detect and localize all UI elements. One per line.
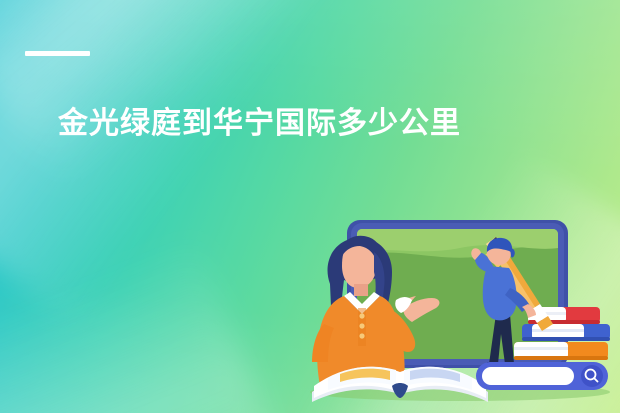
accent-rule (25, 51, 90, 56)
search-bar (476, 362, 608, 390)
cover-card: 金光绿庭到华宁国际多少公里 (0, 0, 620, 413)
page-title: 金光绿庭到华宁国际多少公里 (58, 104, 598, 144)
illustration (300, 196, 620, 413)
